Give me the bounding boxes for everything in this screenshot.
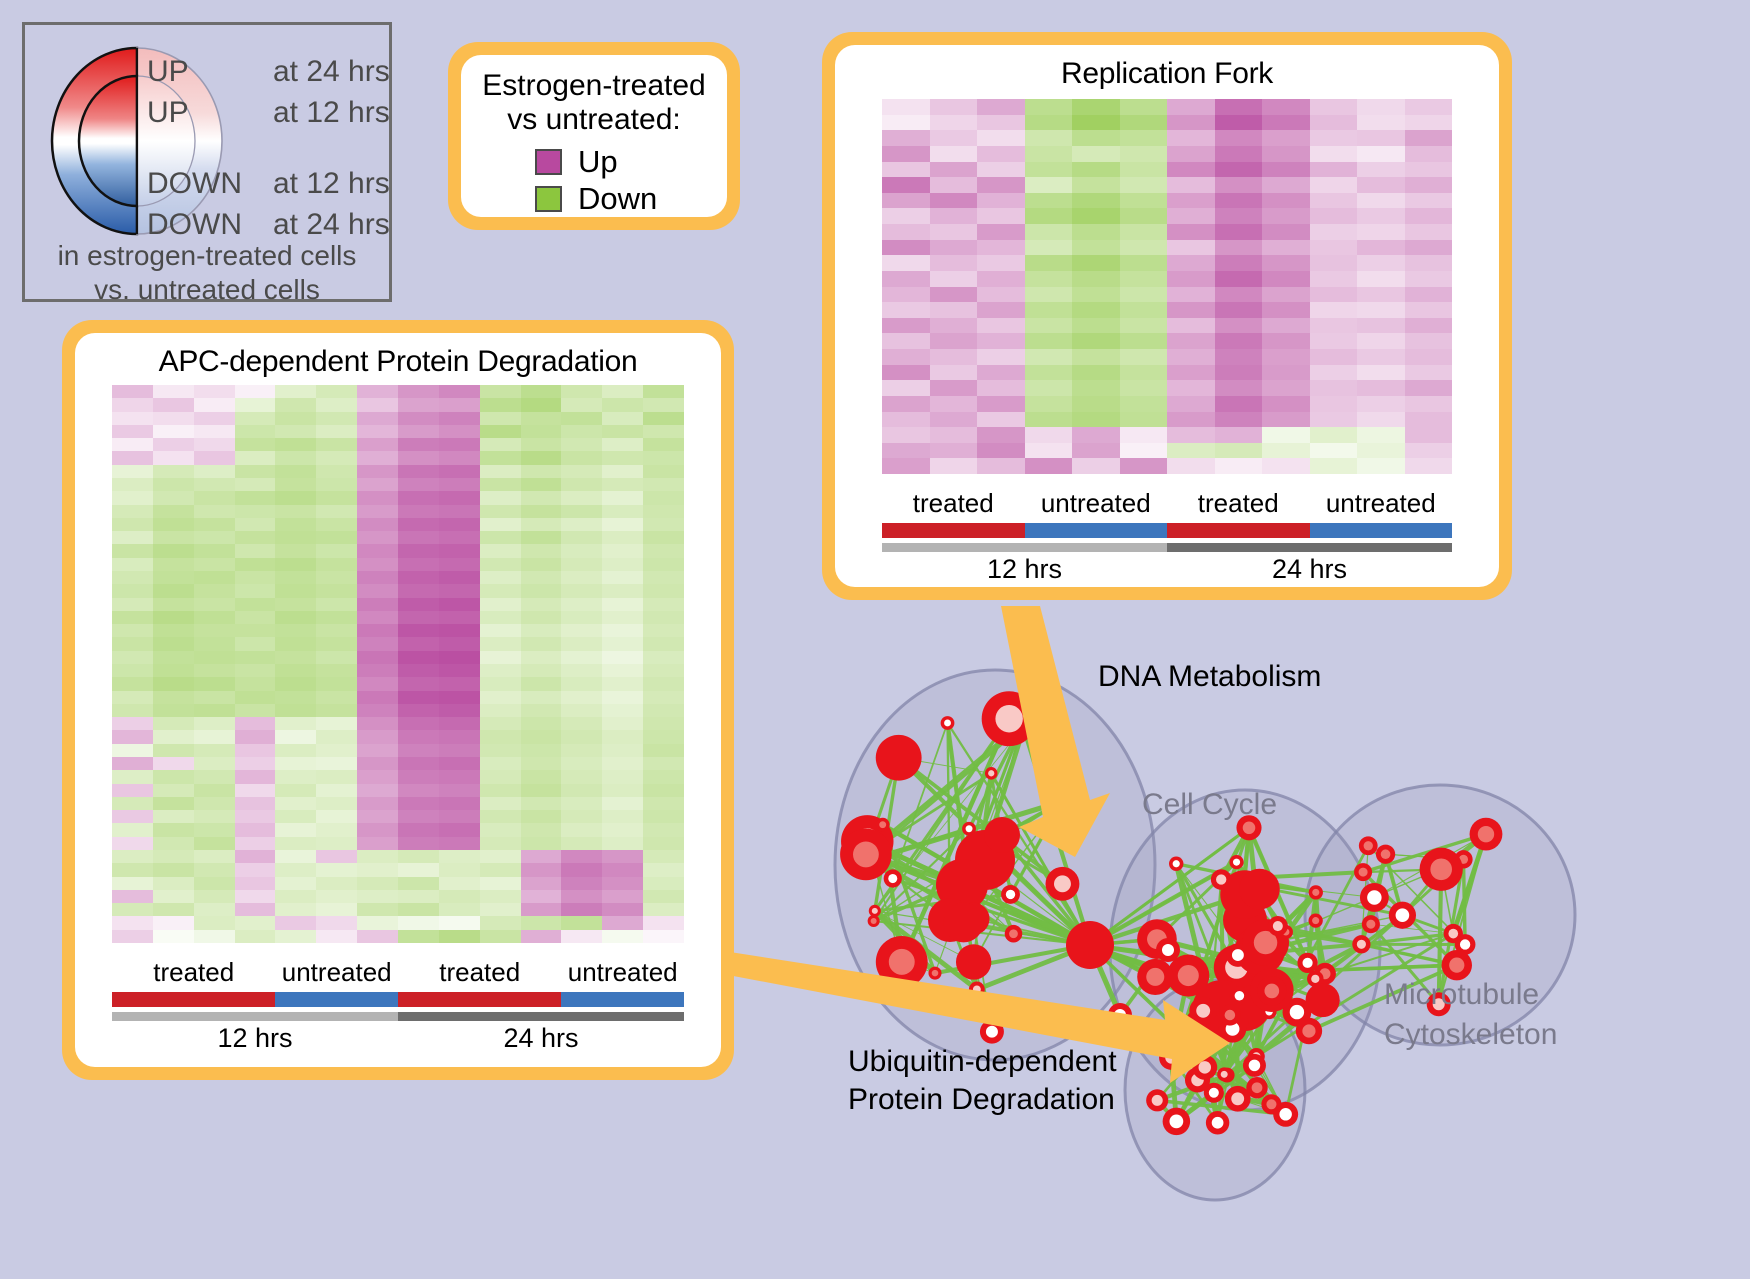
heatmap-cell bbox=[930, 412, 978, 428]
heatmap-cell bbox=[977, 349, 1025, 365]
heatmap-cell bbox=[153, 744, 194, 757]
heatmap-cell bbox=[1405, 271, 1453, 287]
heatmap-cell bbox=[235, 518, 276, 531]
heatmap-cell bbox=[977, 255, 1025, 271]
heatmap-cell bbox=[521, 823, 562, 836]
heatmap-cell bbox=[1405, 302, 1453, 318]
heatmap-cell bbox=[153, 505, 194, 518]
heatmap-cell bbox=[602, 398, 643, 411]
group-color-bar bbox=[882, 523, 1025, 538]
heatmap-cell bbox=[561, 691, 602, 704]
heatmap-cell bbox=[153, 850, 194, 863]
heatmap-cell bbox=[275, 624, 316, 637]
heatmap-cell bbox=[275, 385, 316, 398]
heatmap-cell bbox=[1357, 302, 1405, 318]
heatmap-cell bbox=[275, 730, 316, 743]
heatmap-cell bbox=[439, 624, 480, 637]
heatmap-cell bbox=[561, 770, 602, 783]
heatmap-cell bbox=[357, 637, 398, 650]
time-label: 24 hrs bbox=[1167, 554, 1452, 585]
heatmap-cell bbox=[1310, 412, 1358, 428]
heatmap-cell bbox=[1072, 240, 1120, 256]
heatmap-cell bbox=[930, 162, 978, 178]
heatmap-cell bbox=[480, 677, 521, 690]
heatmap-cell bbox=[1025, 271, 1073, 287]
heatmap-cell bbox=[1215, 318, 1263, 334]
heatmap-cell bbox=[316, 611, 357, 624]
heatmap-cell bbox=[1025, 349, 1073, 365]
heatmap-cell bbox=[398, 863, 439, 876]
heatmap-cell bbox=[882, 380, 930, 396]
estrogen-legend-title-line1: Estrogen-treated bbox=[461, 69, 727, 103]
heatmap-cell bbox=[1072, 333, 1120, 349]
heatmap-cell bbox=[398, 571, 439, 584]
heatmap-cell bbox=[1405, 193, 1453, 209]
heatmap-cell bbox=[1405, 349, 1453, 365]
heatmap-cell bbox=[521, 903, 562, 916]
heatmap-cell bbox=[357, 730, 398, 743]
heatmap-cell bbox=[561, 704, 602, 717]
heatmap-cell bbox=[480, 624, 521, 637]
heatmap-cell bbox=[275, 425, 316, 438]
heatmap-cell bbox=[561, 571, 602, 584]
color-key-row: UP at 12 hrs bbox=[147, 96, 397, 137]
group-label: untreated bbox=[275, 957, 398, 988]
heatmap-cell bbox=[357, 624, 398, 637]
heatmap-cell bbox=[1215, 271, 1263, 287]
heatmap-cell bbox=[521, 810, 562, 823]
heatmap-cell bbox=[1120, 333, 1168, 349]
heatmap-cell bbox=[398, 677, 439, 690]
heatmap-cell bbox=[112, 651, 153, 664]
heatmap-cell bbox=[1072, 255, 1120, 271]
heatmap-cell bbox=[357, 518, 398, 531]
color-key-box: UP at 24 hrs UP at 12 hrs DOWN at 12 hrs… bbox=[22, 22, 392, 302]
heatmap-cell bbox=[153, 571, 194, 584]
heatmap-cell bbox=[882, 396, 930, 412]
heatmap-cell bbox=[521, 491, 562, 504]
heatmap-cell bbox=[480, 784, 521, 797]
heatmap-cell bbox=[275, 637, 316, 650]
heatmap-cell bbox=[1072, 130, 1120, 146]
heatmap-cell bbox=[1025, 380, 1073, 396]
heatmap-cell bbox=[930, 287, 978, 303]
heatmap-cell bbox=[439, 837, 480, 850]
heatmap-cell bbox=[112, 505, 153, 518]
heatmap-cell bbox=[439, 744, 480, 757]
heatmap-cell bbox=[521, 505, 562, 518]
heatmap-cell bbox=[153, 637, 194, 650]
heatmap-cell bbox=[1357, 224, 1405, 240]
heatmap-cell bbox=[561, 531, 602, 544]
heatmap-cell bbox=[521, 730, 562, 743]
heatmap-cell bbox=[930, 255, 978, 271]
heatmap-cell bbox=[1167, 365, 1215, 381]
heatmap-cell bbox=[1120, 99, 1168, 115]
network-label-protein-degradation: Protein Degradation bbox=[848, 1083, 1115, 1118]
heatmap-cell bbox=[153, 465, 194, 478]
heatmap-cell bbox=[602, 505, 643, 518]
heatmap-cell bbox=[316, 704, 357, 717]
heatmap-cell bbox=[882, 333, 930, 349]
heatmap-cell bbox=[521, 717, 562, 730]
group-color-bar bbox=[1025, 523, 1168, 538]
heatmap-cell bbox=[1357, 318, 1405, 334]
heatmap-cell bbox=[1167, 115, 1215, 131]
heatmap-cell bbox=[1310, 380, 1358, 396]
heatmap-cell bbox=[643, 730, 684, 743]
heatmap-cell bbox=[235, 637, 276, 650]
legend-item-down-label: Down bbox=[578, 181, 657, 217]
heatmap-cell bbox=[398, 398, 439, 411]
heatmap-cell bbox=[316, 730, 357, 743]
heatmap-cell bbox=[561, 717, 602, 730]
heatmap-cell bbox=[194, 757, 235, 770]
heatmap-cell bbox=[275, 451, 316, 464]
heatmap-cell bbox=[602, 518, 643, 531]
heatmap-cell bbox=[1262, 443, 1310, 459]
heatmap-cell bbox=[1120, 271, 1168, 287]
heatmap-cell bbox=[357, 704, 398, 717]
heatmap-cell bbox=[316, 465, 357, 478]
color-key-direction: DOWN bbox=[147, 167, 273, 201]
heatmap-cell bbox=[275, 784, 316, 797]
heatmap-cell bbox=[153, 903, 194, 916]
heatmap-cell bbox=[235, 544, 276, 557]
heatmap-cell bbox=[1025, 99, 1073, 115]
heatmap-cell bbox=[561, 505, 602, 518]
heatmap-cell bbox=[1167, 146, 1215, 162]
heatmap-cell bbox=[1025, 365, 1073, 381]
heatmap-cell bbox=[930, 427, 978, 443]
heatmap-cell bbox=[275, 438, 316, 451]
heatmap-cell bbox=[275, 558, 316, 571]
heatmap-cell bbox=[521, 598, 562, 611]
heatmap-cell bbox=[194, 890, 235, 903]
heatmap-cell bbox=[275, 850, 316, 863]
heatmap-cell bbox=[1310, 271, 1358, 287]
heatmap-cell bbox=[194, 425, 235, 438]
heatmap-cell bbox=[194, 770, 235, 783]
heatmap-cell bbox=[1215, 193, 1263, 209]
heatmap-cell bbox=[235, 611, 276, 624]
heatmap-cell bbox=[1405, 443, 1453, 459]
heatmap-cell bbox=[194, 584, 235, 597]
color-key-time: at 24 hrs bbox=[273, 208, 390, 242]
heatmap-cell bbox=[521, 691, 562, 704]
heatmap-cell bbox=[316, 863, 357, 876]
heatmap-cell bbox=[275, 677, 316, 690]
heatmap-cell bbox=[275, 717, 316, 730]
heatmap-cell bbox=[1215, 287, 1263, 303]
heatmap-cell bbox=[439, 677, 480, 690]
heatmap-cell bbox=[1405, 396, 1453, 412]
heatmap-cell bbox=[561, 677, 602, 690]
group-label: treated bbox=[398, 957, 561, 988]
heatmap-cell bbox=[643, 677, 684, 690]
heatmap-cell bbox=[602, 598, 643, 611]
heatmap-cell bbox=[275, 584, 316, 597]
replication-fork-inner: Replication Fork treateduntreatedtreated… bbox=[835, 45, 1499, 587]
heatmap-cell bbox=[439, 691, 480, 704]
heatmap-cell bbox=[112, 624, 153, 637]
heatmap-cell bbox=[643, 624, 684, 637]
heatmap-cell bbox=[1405, 130, 1453, 146]
heatmap-cell bbox=[153, 611, 194, 624]
heatmap-cell bbox=[316, 412, 357, 425]
heatmap-cell bbox=[1405, 240, 1453, 256]
heatmap-cell bbox=[480, 398, 521, 411]
heatmap-cell bbox=[521, 916, 562, 929]
heatmap-cell bbox=[235, 863, 276, 876]
heatmap-cell bbox=[316, 930, 357, 943]
heatmap-cell bbox=[1120, 177, 1168, 193]
heatmap-cell bbox=[602, 797, 643, 810]
heatmap-cell bbox=[112, 903, 153, 916]
color-key-footnote-line1: in estrogen-treated cells bbox=[25, 239, 389, 273]
heatmap-cell bbox=[1405, 115, 1453, 131]
heatmap-cell bbox=[357, 584, 398, 597]
heatmap-cell bbox=[1405, 99, 1453, 115]
time-label: 24 hrs bbox=[398, 1023, 684, 1054]
heatmap-cell bbox=[1025, 412, 1073, 428]
heatmap-cell bbox=[153, 451, 194, 464]
heatmap-cell bbox=[235, 412, 276, 425]
heatmap-cell bbox=[1262, 162, 1310, 178]
heatmap-cell bbox=[1025, 115, 1073, 131]
heatmap-cell bbox=[1072, 427, 1120, 443]
heatmap-cell bbox=[1025, 177, 1073, 193]
heatmap-cell bbox=[1405, 427, 1453, 443]
heatmap-cell bbox=[930, 193, 978, 209]
heatmap-cell bbox=[521, 770, 562, 783]
heatmap-cell bbox=[194, 637, 235, 650]
heatmap-cell bbox=[1167, 458, 1215, 474]
heatmap-cell bbox=[1262, 349, 1310, 365]
heatmap-cell bbox=[977, 240, 1025, 256]
heatmap-cell bbox=[316, 505, 357, 518]
heatmap-cell bbox=[480, 916, 521, 929]
heatmap-cell bbox=[153, 544, 194, 557]
heatmap-cell bbox=[357, 784, 398, 797]
heatmap-cell bbox=[602, 877, 643, 890]
heatmap-cell bbox=[1405, 255, 1453, 271]
heatmap-cell bbox=[480, 744, 521, 757]
heatmap-cell bbox=[153, 518, 194, 531]
heatmap-cell bbox=[112, 425, 153, 438]
heatmap-cell bbox=[1167, 99, 1215, 115]
heatmap-cell bbox=[521, 571, 562, 584]
replication-fork-group-bars bbox=[882, 523, 1452, 538]
heatmap-cell bbox=[1310, 146, 1358, 162]
estrogen-legend-inner: Estrogen-treated vs untreated: Up Down bbox=[461, 55, 727, 217]
heatmap-cell bbox=[521, 478, 562, 491]
heatmap-cell bbox=[275, 491, 316, 504]
apc-panel: APC-dependent Protein Degradation treate… bbox=[62, 320, 734, 1080]
heatmap-cell bbox=[521, 412, 562, 425]
heatmap-cell bbox=[1072, 412, 1120, 428]
heatmap-cell bbox=[112, 730, 153, 743]
heatmap-cell bbox=[357, 478, 398, 491]
network-label-cell-cycle: Cell Cycle bbox=[1142, 788, 1277, 823]
heatmap-cell bbox=[930, 302, 978, 318]
heatmap-cell bbox=[1262, 130, 1310, 146]
heatmap-cell bbox=[357, 717, 398, 730]
heatmap-cell bbox=[1310, 333, 1358, 349]
heatmap-cell bbox=[602, 677, 643, 690]
heatmap-cell bbox=[977, 396, 1025, 412]
heatmap-cell bbox=[602, 412, 643, 425]
heatmap-cell bbox=[1120, 146, 1168, 162]
heatmap-cell bbox=[1072, 380, 1120, 396]
heatmap-cell bbox=[153, 810, 194, 823]
heatmap-cell bbox=[357, 877, 398, 890]
heatmap-cell bbox=[1167, 193, 1215, 209]
heatmap-cell bbox=[1262, 318, 1310, 334]
heatmap-cell bbox=[194, 544, 235, 557]
heatmap-cell bbox=[480, 930, 521, 943]
heatmap-cell bbox=[275, 531, 316, 544]
heatmap-cell bbox=[316, 651, 357, 664]
heatmap-cell bbox=[357, 810, 398, 823]
heatmap-cell bbox=[643, 584, 684, 597]
heatmap-cell bbox=[398, 637, 439, 650]
heatmap-cell bbox=[398, 651, 439, 664]
heatmap-cell bbox=[561, 451, 602, 464]
apc-group-bars bbox=[112, 992, 684, 1007]
heatmap-cell bbox=[1357, 130, 1405, 146]
heatmap-cell bbox=[316, 637, 357, 650]
apc-time-bars bbox=[112, 1012, 684, 1021]
heatmap-cell bbox=[1120, 115, 1168, 131]
heatmap-cell bbox=[1072, 193, 1120, 209]
heatmap-cell bbox=[1167, 271, 1215, 287]
heatmap-cell bbox=[1120, 193, 1168, 209]
heatmap-cell bbox=[561, 810, 602, 823]
heatmap-cell bbox=[275, 691, 316, 704]
heatmap-cell bbox=[235, 505, 276, 518]
heatmap-cell bbox=[439, 558, 480, 571]
heatmap-cell bbox=[398, 412, 439, 425]
heatmap-cell bbox=[112, 916, 153, 929]
heatmap-cell bbox=[977, 271, 1025, 287]
heatmap-cell bbox=[1120, 443, 1168, 459]
heatmap-cell bbox=[1357, 380, 1405, 396]
heatmap-cell bbox=[930, 365, 978, 381]
heatmap-cell bbox=[602, 571, 643, 584]
heatmap-cell bbox=[480, 478, 521, 491]
heatmap-cell bbox=[1072, 208, 1120, 224]
heatmap-cell bbox=[275, 823, 316, 836]
heatmap-cell bbox=[398, 465, 439, 478]
heatmap-cell bbox=[1167, 287, 1215, 303]
heatmap-cell bbox=[1215, 177, 1263, 193]
time-label: 12 hrs bbox=[882, 554, 1167, 585]
heatmap-cell bbox=[194, 837, 235, 850]
heatmap-cell bbox=[521, 558, 562, 571]
heatmap-cell bbox=[235, 877, 276, 890]
heatmap-cell bbox=[643, 744, 684, 757]
heatmap-cell bbox=[561, 584, 602, 597]
heatmap-cell bbox=[1262, 396, 1310, 412]
heatmap-cell bbox=[112, 598, 153, 611]
heatmap-cell bbox=[316, 837, 357, 850]
figure-canvas: UP at 24 hrs UP at 12 hrs DOWN at 12 hrs… bbox=[0, 0, 1750, 1279]
heatmap-cell bbox=[398, 930, 439, 943]
heatmap-cell bbox=[398, 757, 439, 770]
heatmap-cell bbox=[1120, 130, 1168, 146]
heatmap-cell bbox=[357, 611, 398, 624]
heatmap-cell bbox=[561, 823, 602, 836]
heatmap-cell bbox=[1310, 99, 1358, 115]
heatmap-cell bbox=[480, 531, 521, 544]
time-color-bar bbox=[112, 1012, 398, 1021]
heatmap-cell bbox=[882, 443, 930, 459]
heatmap-cell bbox=[439, 916, 480, 929]
heatmap-cell bbox=[930, 177, 978, 193]
heatmap-cell bbox=[398, 691, 439, 704]
color-key-time: at 12 hrs bbox=[273, 167, 390, 201]
heatmap-cell bbox=[275, 744, 316, 757]
time-color-bar bbox=[1167, 543, 1452, 552]
heatmap-cell bbox=[153, 717, 194, 730]
time-label: 12 hrs bbox=[112, 1023, 398, 1054]
heatmap-cell bbox=[275, 863, 316, 876]
heatmap-cell bbox=[398, 837, 439, 850]
color-key-rows: UP at 24 hrs UP at 12 hrs DOWN at 12 hrs… bbox=[147, 55, 397, 249]
legend-swatch-down-icon bbox=[535, 186, 562, 212]
heatmap-cell bbox=[1215, 130, 1263, 146]
heatmap-cell bbox=[602, 584, 643, 597]
heatmap-cell bbox=[153, 412, 194, 425]
heatmap-cell bbox=[194, 505, 235, 518]
heatmap-cell bbox=[398, 664, 439, 677]
heatmap-cell bbox=[194, 730, 235, 743]
heatmap-cell bbox=[1120, 380, 1168, 396]
heatmap-cell bbox=[235, 584, 276, 597]
legend-item-up: Up bbox=[535, 143, 727, 180]
heatmap-cell bbox=[112, 478, 153, 491]
heatmap-cell bbox=[930, 396, 978, 412]
heatmap-cell bbox=[1072, 177, 1120, 193]
color-key-footnote: in estrogen-treated cells vs. untreated … bbox=[25, 239, 389, 307]
heatmap-cell bbox=[1310, 427, 1358, 443]
heatmap-cell bbox=[1357, 349, 1405, 365]
heatmap-cell bbox=[643, 704, 684, 717]
heatmap-cell bbox=[561, 744, 602, 757]
heatmap-cell bbox=[1262, 99, 1310, 115]
heatmap-cell bbox=[643, 890, 684, 903]
heatmap-cell bbox=[1072, 115, 1120, 131]
heatmap-cell bbox=[643, 438, 684, 451]
heatmap-cell bbox=[1215, 240, 1263, 256]
heatmap-cell bbox=[275, 837, 316, 850]
heatmap-cell bbox=[194, 558, 235, 571]
heatmap-cell bbox=[316, 916, 357, 929]
heatmap-cell bbox=[275, 664, 316, 677]
heatmap-cell bbox=[439, 398, 480, 411]
time-color-bar bbox=[882, 543, 1167, 552]
time-color-bar bbox=[398, 1012, 684, 1021]
heatmap-cell bbox=[235, 744, 276, 757]
heatmap-cell bbox=[602, 691, 643, 704]
color-key-direction: UP bbox=[147, 96, 273, 130]
network-label-ubiquitin: Ubiquitin-dependent bbox=[848, 1045, 1117, 1080]
heatmap-cell bbox=[977, 318, 1025, 334]
heatmap-cell bbox=[439, 890, 480, 903]
heatmap-cell bbox=[1167, 412, 1215, 428]
heatmap-cell bbox=[439, 478, 480, 491]
